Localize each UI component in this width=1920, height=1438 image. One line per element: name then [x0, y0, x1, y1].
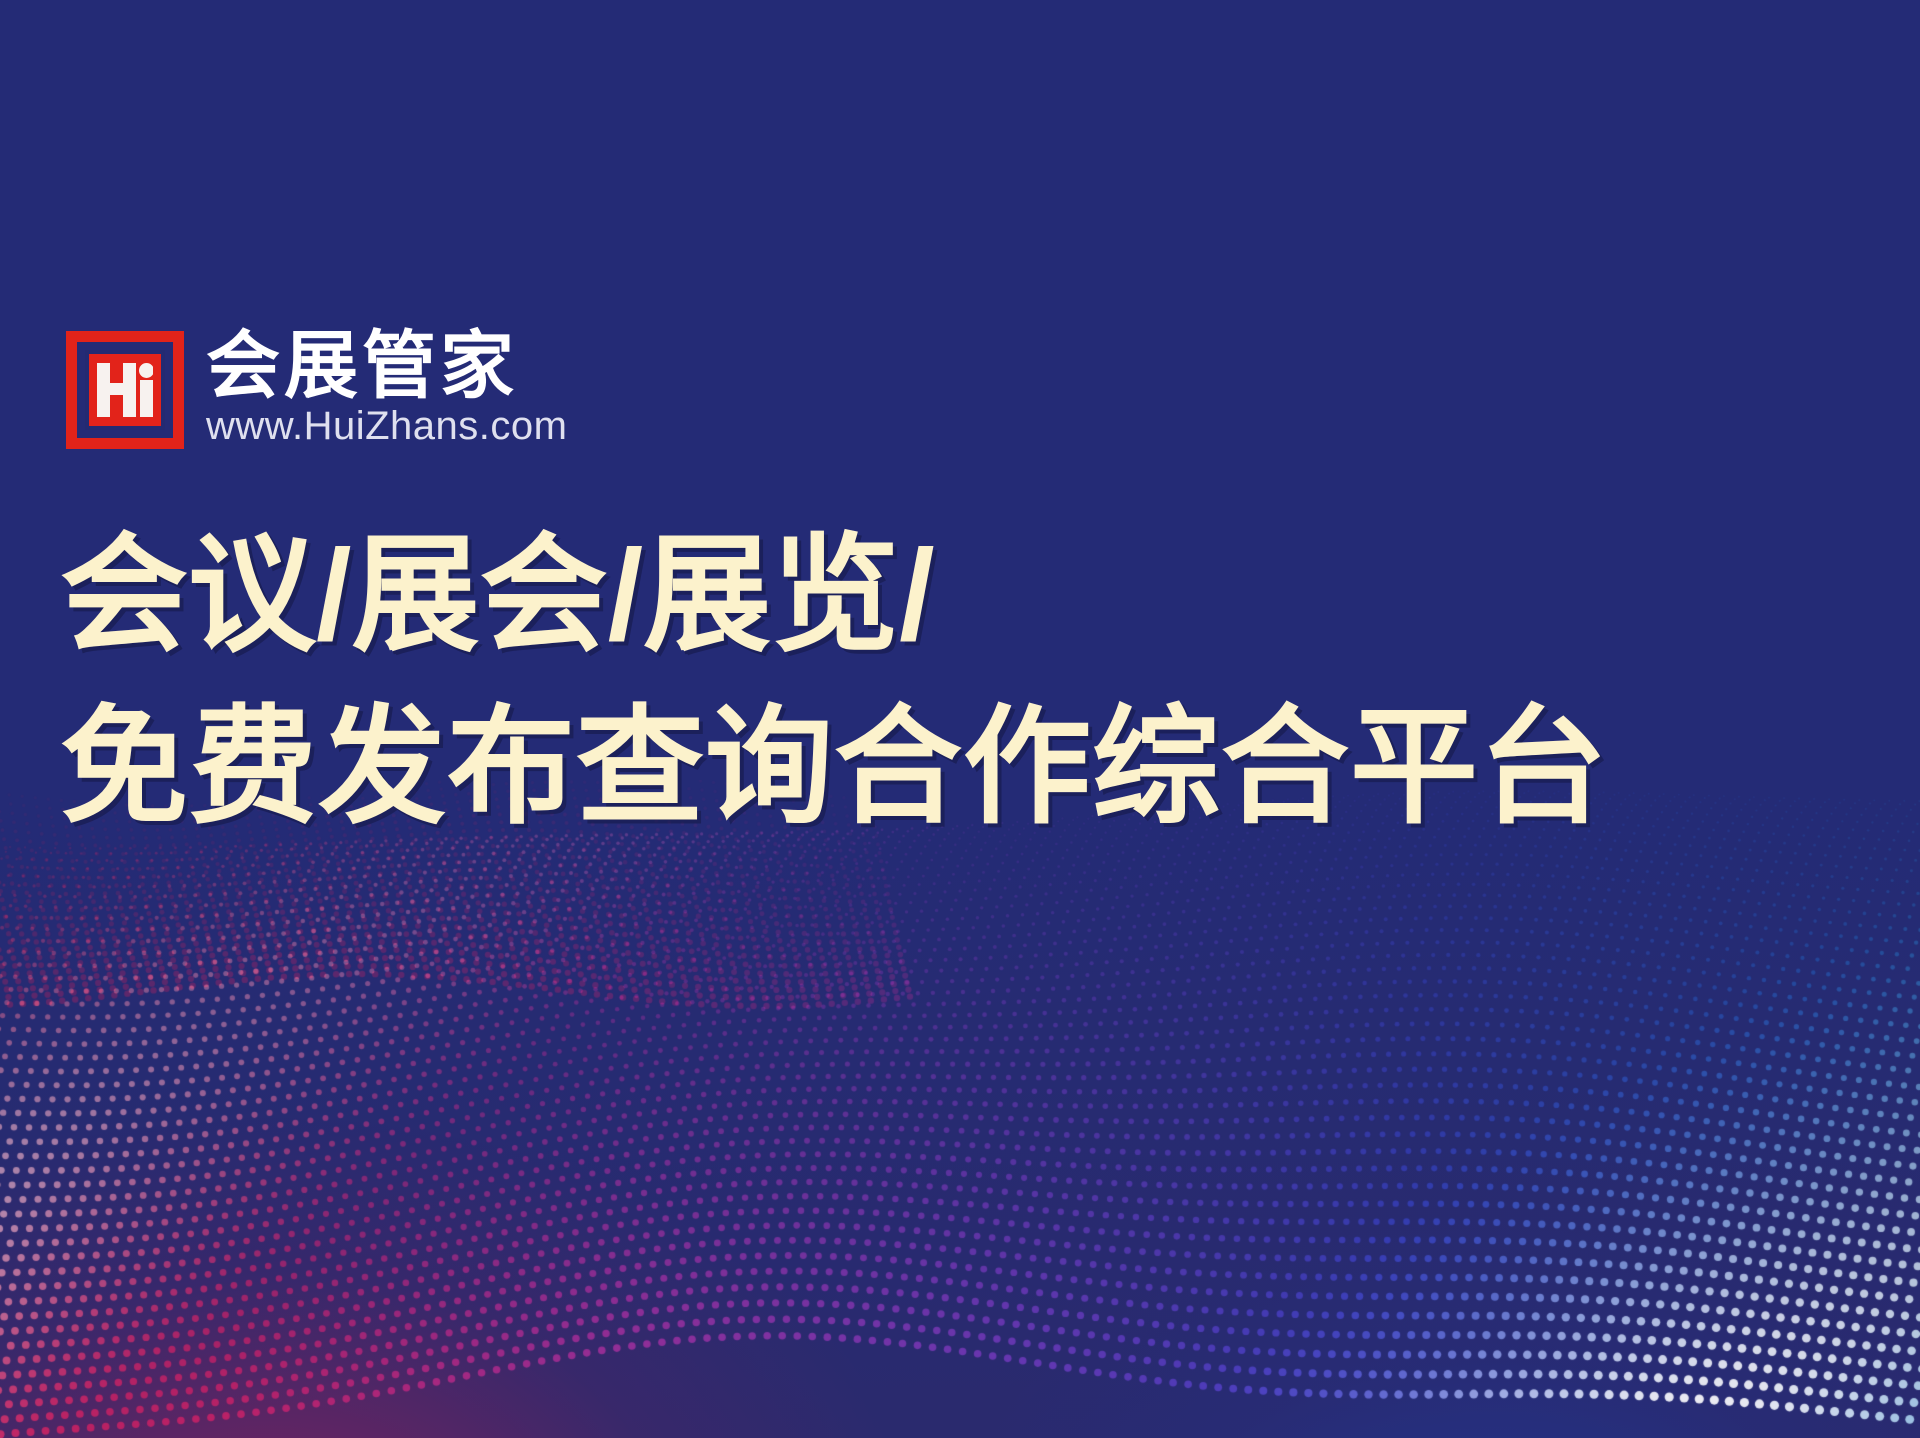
logo-hi-letters-icon [97, 363, 153, 417]
headline-line-1: 会议/展会/展览/ [60, 510, 1870, 682]
brand-name-cn: 会展管家 [206, 326, 567, 406]
headline-block: 会议/展会/展览/ 免费发布查询合作综合平台 [60, 510, 1870, 854]
brand-logo: 会展管家 www.HuiZhans.com [66, 326, 567, 449]
headline-line-2: 免费发布查询合作综合平台 [60, 682, 1870, 854]
logo-mark-icon [66, 331, 184, 449]
brand-text-group: 会展管家 www.HuiZhans.com [206, 326, 567, 448]
brand-website: www.HuiZhans.com [206, 404, 567, 448]
poster-root: 会展管家 www.HuiZhans.com 会议/展会/展览/ 免费发布查询合作… [0, 0, 1920, 1438]
particle-wave-decoration [0, 780, 1920, 1438]
